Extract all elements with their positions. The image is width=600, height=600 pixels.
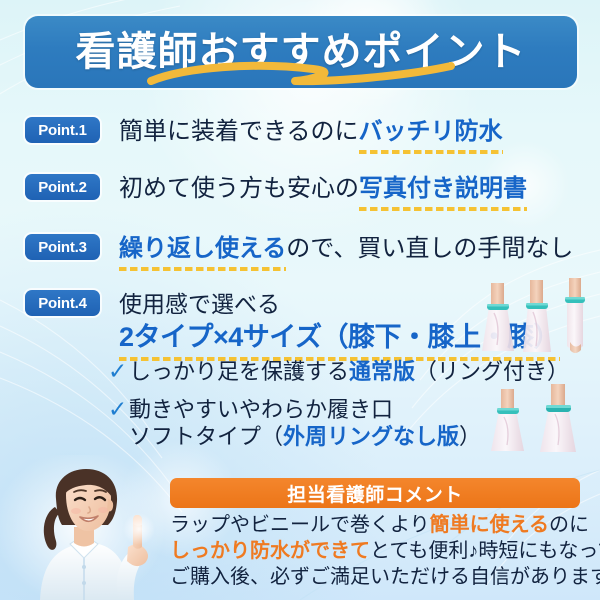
check-item-2: ✓ 動きやすいやわらか履き口 ソフトタイプ（外周リングなし版） — [108, 396, 481, 450]
product-image-cover-knee-below-flare — [478, 283, 518, 355]
comment-section-badge: 担当看護師コメント — [170, 478, 580, 508]
check-plain-1a: しっかり足を保護する — [129, 359, 349, 384]
check-text-1-wrap: しっかり足を保護する通常版（リング付き） — [129, 358, 569, 385]
comment-1-highlight: 簡単に使える — [430, 514, 549, 536]
comment-line-3: ご購入後、必ずご満足いただける自信があります！ — [170, 564, 590, 590]
point-text-1: 簡単に装着できるのにバッチリ防水 — [119, 117, 503, 147]
point-highlight-2: 写真付き説明書 — [359, 174, 527, 204]
check-text-1: しっかり足を保護する通常版（リング付き） — [129, 358, 569, 385]
check-text-2-line1: 動きやすいやわらか履き口 — [129, 396, 481, 423]
product-image-cover-knee-mid — [518, 280, 556, 356]
point-highlight-3: 繰り返し使える — [119, 234, 286, 264]
comment-body: ラップやビニールで巻くより簡単に使えるのに しっかり防水ができてとても便利♪時短… — [170, 512, 590, 590]
point-plain-1: 簡単に装着できるのに — [119, 118, 359, 145]
point-badge-3: Point.3 — [25, 234, 100, 260]
check-text-2-wrap: 動きやすいやわらか履き口 ソフトタイプ（外周リングなし版） — [129, 396, 481, 450]
check-plain-2b: ） — [459, 424, 481, 449]
comment-1-plain-b: のに — [549, 514, 589, 536]
product-image-cover-soft-flare-right — [536, 384, 582, 456]
point-text-2: 初めて使う方も安心の写真付き説明書 — [119, 174, 527, 204]
check-text-2-line2: ソフトタイプ（外周リングなし版） — [129, 423, 481, 450]
infographic-page: 看護師おすすめポイント Point.1 簡単に装着できるのにバッチリ防水 Poi… — [0, 0, 600, 600]
check-highlight-2: 外周リングなし版 — [283, 424, 459, 449]
yellow-brush-underline-icon — [145, 60, 465, 86]
point-badge-1: Point.1 — [25, 117, 100, 143]
comment-1-plain-a: ラップやビニールで巻くより — [170, 514, 430, 536]
point-badge-4: Point.4 — [25, 290, 100, 316]
check-plain-2a: ソフトタイプ（ — [129, 424, 283, 449]
point-row-3: Point.3 繰り返し使えるので、買い直しの手間なし — [25, 234, 573, 264]
point-highlight-1: バッチリ防水 — [359, 117, 503, 147]
comment-3-plain-a: ご購入後、必ずご満足いただける自信があります！ — [170, 566, 600, 588]
header-banner: 看護師おすすめポイント — [25, 16, 577, 88]
point-plain-2: 初めて使う方も安心の — [119, 175, 359, 202]
check-icon: ✓ — [108, 396, 129, 422]
point-row-2: Point.2 初めて使う方も安心の写真付き説明書 — [25, 174, 527, 204]
comment-line-2: しっかり防水ができてとても便利♪時短にもなって — [170, 538, 590, 564]
point-text-3: 繰り返し使えるので、買い直しの手間なし — [119, 234, 573, 264]
check-plain-1b: （リング付き） — [415, 359, 569, 384]
point-badge-2: Point.2 — [25, 174, 100, 200]
point-row-1: Point.1 簡単に装着できるのにバッチリ防水 — [25, 117, 503, 147]
comment-2-plain-b: とても便利♪時短にもなって — [370, 540, 600, 562]
check-highlight-1: 通常版 — [349, 359, 415, 384]
check-item-1: ✓ しっかり足を保護する通常版（リング付き） — [108, 358, 569, 385]
point-plain-3: ので、買い直しの手間なし — [286, 235, 573, 262]
nurse-photo-pointing-up — [0, 455, 175, 600]
comment-line-1: ラップやビニールで巻くより簡単に使えるのに — [170, 512, 590, 538]
check-icon: ✓ — [108, 358, 129, 384]
product-image-cover-soft-flare-left — [487, 389, 529, 455]
comment-2-highlight: しっかり防水ができて — [170, 540, 370, 562]
product-image-cover-knee-slim — [558, 278, 592, 356]
